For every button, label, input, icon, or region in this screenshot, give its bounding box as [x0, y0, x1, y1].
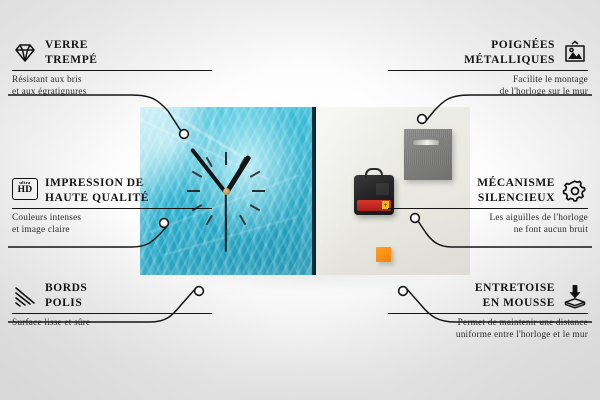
feature-verre-trempe: VERRETREMPÉ Résistant aux briset aux égr…: [12, 38, 212, 99]
feature-title: ENTRETOISEEN MOUSSE: [475, 281, 555, 310]
feature-title: POIGNÉESMÉTALLIQUES: [464, 38, 555, 67]
clock-second-hand: [225, 192, 227, 252]
divider: [12, 313, 212, 314]
feature-bords-polis: BORDSPOLIS Surface lisse et sûre: [12, 281, 212, 330]
feature-header: MÉCANISMESILENCIEUX: [388, 176, 588, 205]
feature-mecanisme-silencieux: MÉCANISMESILENCIEUX Les aiguilles de l'h…: [388, 176, 588, 237]
battery: +: [357, 200, 391, 211]
feature-header: BORDSPOLIS: [12, 281, 212, 310]
feature-header: ENTRETOISEEN MOUSSE: [388, 281, 588, 310]
feature-header: VERRETREMPÉ: [12, 38, 212, 67]
feature-description: Couleurs intenseset image claire: [12, 213, 212, 236]
feature-header: POIGNÉESMÉTALLIQUES: [388, 38, 588, 67]
hanger-slot: [413, 139, 439, 145]
divider: [12, 208, 212, 209]
divider: [388, 208, 588, 209]
feature-description: Les aiguilles de l'horlogene font aucun …: [388, 213, 588, 236]
feature-header: ultra HD IMPRESSION DEHAUTE QUALITÉ: [12, 176, 212, 205]
feature-title: IMPRESSION DEHAUTE QUALITÉ: [45, 176, 149, 205]
metal-hanger-plate: [404, 129, 452, 180]
feature-title: BORDSPOLIS: [45, 281, 87, 310]
feature-poignees-metalliques: POIGNÉESMÉTALLIQUES Facilite le montaged…: [388, 38, 588, 99]
divider: [12, 70, 212, 71]
feature-impression-hd: ultra HD IMPRESSION DEHAUTE QUALITÉ Coul…: [12, 176, 212, 237]
picture-frame-hanger-icon: [562, 40, 588, 66]
feature-title: VERRETREMPÉ: [45, 38, 98, 67]
polished-edge-lines-icon: [12, 283, 38, 309]
feather-streak: [133, 115, 270, 180]
feature-description: Surface lisse et sûre: [12, 318, 212, 330]
feature-description: Résistant aux briset aux égratignures: [12, 75, 212, 98]
feature-title: MÉCANISMESILENCIEUX: [477, 176, 555, 205]
hanging-loop: [365, 168, 383, 178]
divider: [388, 70, 588, 71]
diamond-icon: [12, 40, 38, 66]
divider: [388, 313, 588, 314]
foam-spacer: [376, 247, 391, 262]
gear-icon: [562, 178, 588, 204]
clock-center-pin: [223, 188, 230, 195]
feature-entretoise-en-mousse: ENTRETOISEEN MOUSSE Permet de maintenir …: [388, 281, 588, 342]
ultra-hd-icon: ultra HD: [12, 178, 38, 204]
feature-description: Facilite le montagede l'horloge sur le m…: [388, 75, 588, 98]
feature-description: Permet de maintenir une distanceuniforme…: [388, 318, 588, 341]
arrow-down-foam-pad-icon: [562, 283, 588, 309]
